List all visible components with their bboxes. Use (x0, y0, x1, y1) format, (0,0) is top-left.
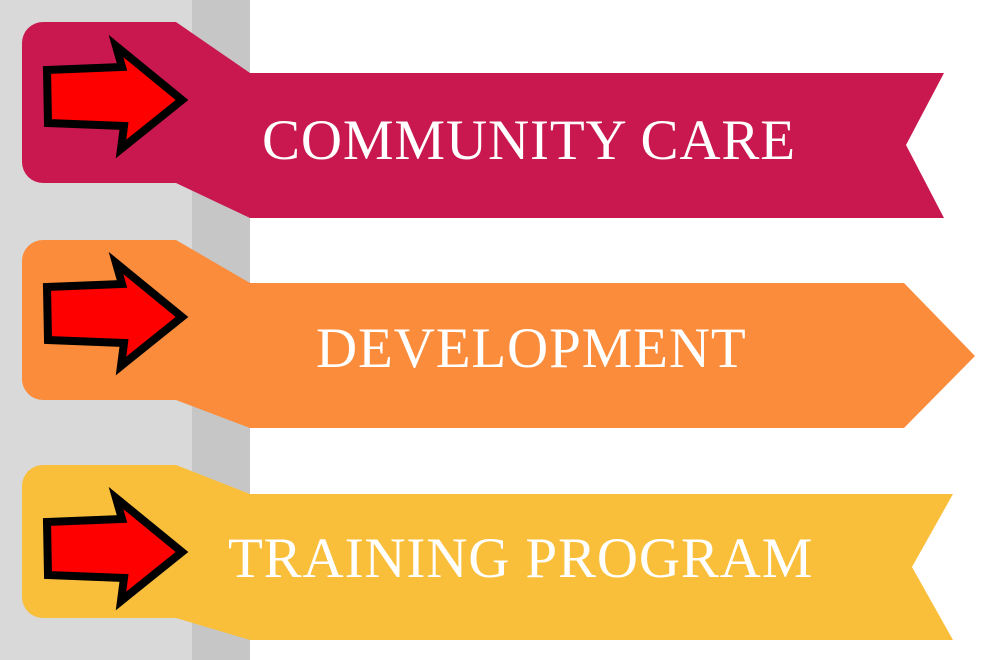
red-arrow-icon-development (47, 263, 182, 366)
infographic-canvas: COMMUNITY CARE DEVELOPMENT TRAINING PROG… (0, 0, 985, 660)
band-label-development: DEVELOPMENT (316, 320, 747, 377)
band-label-community-care: COMMUNITY CARE (262, 112, 796, 169)
band-label-training-program: TRAINING PROGRAM (228, 530, 813, 587)
red-arrow-icon (47, 498, 182, 601)
red-arrow-icon (47, 263, 182, 366)
red-arrow-icon (47, 46, 182, 149)
red-arrow-icon-training (47, 498, 182, 601)
red-arrow-icon-community (47, 46, 182, 149)
